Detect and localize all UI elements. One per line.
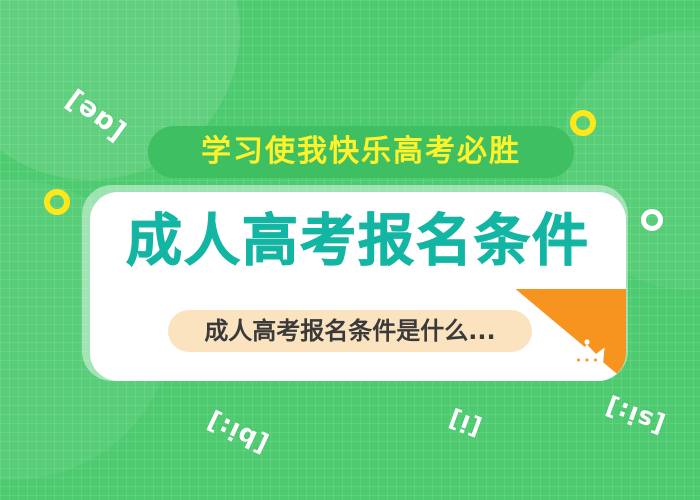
main-card: 成人高考报名条件 — [90, 192, 626, 381]
phonetic-label-2: [bi:] — [202, 406, 273, 459]
corner-wedge — [516, 289, 626, 381]
crown-icon — [568, 339, 606, 367]
ring-yellow-top-icon — [570, 110, 596, 136]
subtitle-text: 成人高考报名条件是什么... — [204, 319, 495, 343]
top-banner: 学习使我快乐高考必胜 — [148, 126, 574, 178]
phonetic-label-1: [ɑe] — [59, 83, 131, 147]
subtitle-pill: 成人高考报名条件是什么... — [168, 310, 532, 352]
phonetic-label-3: [i] — [444, 404, 485, 442]
poster-canvas: [ɑe] [bi:] [i] [si:] 学习使我快乐高考必胜 成人高考报名条件… — [0, 0, 700, 500]
ring-white-right-icon — [641, 209, 663, 231]
page-title: 成人高考报名条件 — [90, 214, 626, 270]
phonetic-label-4: [si:] — [601, 391, 669, 439]
ring-yellow-left-icon — [44, 189, 70, 215]
top-banner-text: 学习使我快乐高考必胜 — [201, 137, 521, 167]
